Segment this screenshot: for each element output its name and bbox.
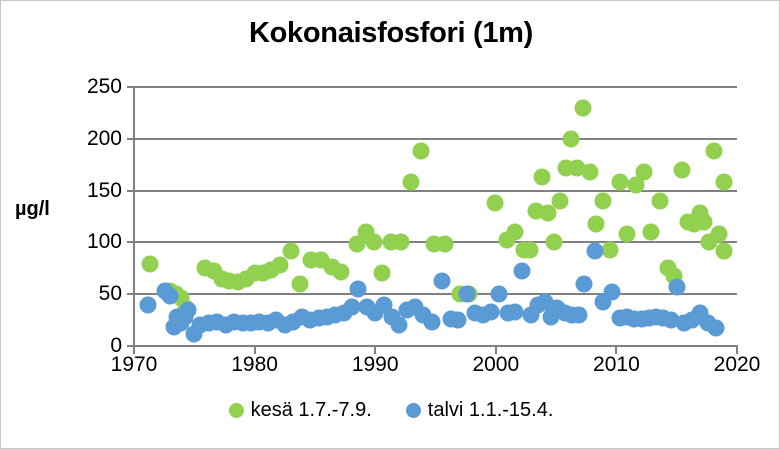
data-point <box>575 275 592 292</box>
x-axis-tick-label-2000: 2000 <box>472 353 519 377</box>
data-point <box>595 192 612 209</box>
data-point <box>545 234 562 251</box>
data-point <box>574 99 591 116</box>
data-point <box>581 163 598 180</box>
data-point <box>350 281 367 298</box>
data-point <box>391 317 408 334</box>
x-axis-tick-labels: 197019801990200020102020 <box>134 353 737 383</box>
y-axis-tick-250 <box>127 86 135 88</box>
data-point <box>180 301 197 318</box>
data-point <box>271 257 288 274</box>
data-point <box>668 278 685 295</box>
data-point <box>433 272 450 289</box>
data-point <box>602 241 619 258</box>
data-point <box>491 286 508 303</box>
data-point <box>482 303 499 320</box>
data-point <box>651 192 668 209</box>
data-point <box>403 174 420 191</box>
data-point <box>458 286 475 303</box>
data-point <box>586 242 603 259</box>
y-axis-tick-label-150: 150 <box>87 179 122 203</box>
y-axis-line <box>133 87 135 346</box>
data-point <box>140 296 157 313</box>
data-point <box>507 224 524 241</box>
data-point <box>706 143 723 160</box>
y-axis-tick-label-200: 200 <box>87 127 122 151</box>
legend-marker-icon <box>229 403 244 418</box>
data-point <box>437 236 454 253</box>
data-point <box>533 169 550 186</box>
data-point <box>696 213 713 230</box>
data-point <box>551 192 568 209</box>
y-axis-tick-label-50: 50 <box>99 282 122 306</box>
data-point <box>507 303 524 320</box>
data-point <box>365 234 382 251</box>
data-point <box>282 242 299 259</box>
x-axis-tick-label-1970: 1970 <box>111 353 158 377</box>
data-point <box>710 226 727 243</box>
data-point <box>413 143 430 160</box>
y-axis-tick-labels: 050100150200250 <box>62 87 122 346</box>
gridline-y-200 <box>134 138 737 140</box>
x-axis-tick-label-2010: 2010 <box>593 353 640 377</box>
x-axis-tick-label-1980: 1980 <box>231 353 278 377</box>
data-point <box>643 224 660 241</box>
gridline-y-150 <box>134 190 737 192</box>
y-axis-tick-200 <box>127 138 135 140</box>
data-point <box>162 288 179 305</box>
data-point <box>708 320 725 337</box>
data-point <box>636 163 653 180</box>
chart-screenshot: Kokonaisfosfori (1m) µg/l 05010015020025… <box>0 0 780 449</box>
plot-area <box>134 87 737 346</box>
legend-item-label: kesä 1.7.-7.9. <box>251 399 372 422</box>
data-point <box>619 226 636 243</box>
data-point <box>333 264 350 281</box>
data-point <box>571 306 588 323</box>
y-axis-tick-label-250: 250 <box>87 75 122 99</box>
data-point <box>673 161 690 178</box>
gridline-y-250 <box>134 86 737 88</box>
y-axis-tick-100 <box>127 241 135 243</box>
data-point <box>374 265 391 282</box>
data-point <box>423 314 440 331</box>
x-axis-tick-label-2020: 2020 <box>714 353 761 377</box>
data-point <box>603 284 620 301</box>
legend-item-label: talvi 1.1.-15.4. <box>428 399 554 422</box>
x-axis-tick-label-1990: 1990 <box>352 353 399 377</box>
data-point <box>514 263 531 280</box>
data-point <box>562 130 579 147</box>
legend-item-kesa[interactable]: kesä 1.7.-7.9. <box>229 399 372 422</box>
chart-legend: kesä 1.7.-7.9.talvi 1.1.-15.4. <box>1 399 780 422</box>
legend-item-talvi[interactable]: talvi 1.1.-15.4. <box>406 399 554 422</box>
gridline-y-0 <box>134 345 737 347</box>
gridline-y-50 <box>134 293 737 295</box>
data-point <box>716 174 733 191</box>
page-title: Kokonaisfosfori (1m) <box>1 17 780 50</box>
data-point <box>292 275 309 292</box>
data-point <box>141 256 158 273</box>
data-point <box>392 234 409 251</box>
data-point <box>612 174 629 191</box>
y-axis-title: µg/l <box>15 198 50 221</box>
data-point <box>521 241 538 258</box>
y-axis-tick-150 <box>127 190 135 192</box>
data-point <box>715 242 732 259</box>
y-axis-tick-label-100: 100 <box>87 230 122 254</box>
data-point <box>486 195 503 212</box>
y-axis-tick-50 <box>127 293 135 295</box>
data-point <box>450 312 467 329</box>
data-point <box>587 215 604 232</box>
legend-marker-icon <box>406 403 421 418</box>
